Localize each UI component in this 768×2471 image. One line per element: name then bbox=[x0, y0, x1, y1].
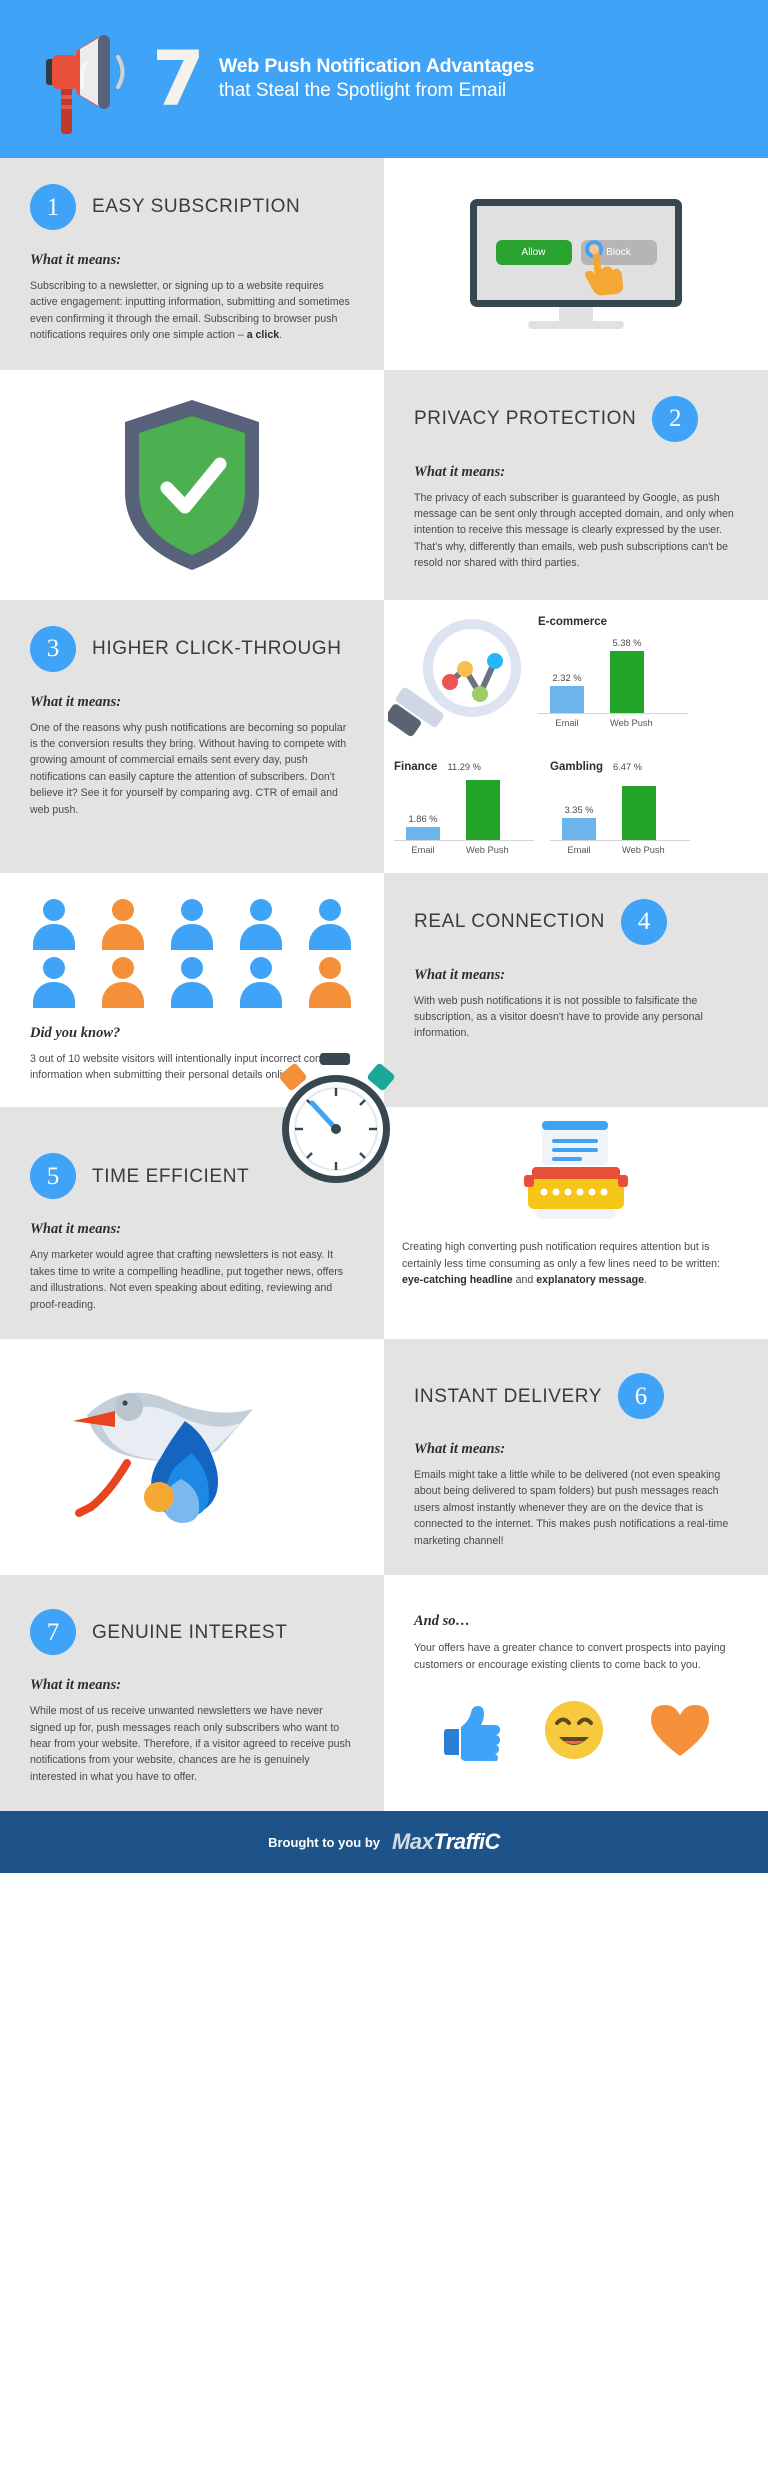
monitor-stand bbox=[559, 307, 593, 321]
bar-value-label: 3.35 % bbox=[565, 805, 594, 815]
did-you-know-label: Did you know? bbox=[30, 1025, 384, 1042]
section-number-badge: 5 bbox=[30, 1153, 76, 1199]
section-title: TIME EFFICIENT bbox=[92, 1164, 249, 1189]
chart-axis-labels: Email Web Push bbox=[550, 845, 690, 855]
section-1-illustration-pane: Allow Block bbox=[384, 158, 768, 370]
section-6-body: Emails might take a little while to be d… bbox=[414, 1467, 738, 1549]
section-number-badge: 3 bbox=[30, 626, 76, 672]
section-number-badge: 2 bbox=[652, 396, 698, 442]
section-4-body: With web push notifications it is not po… bbox=[414, 993, 738, 1042]
chart-title: Finance bbox=[394, 761, 437, 773]
section-7: 7 GENUINE INTEREST What it means: While … bbox=[0, 1575, 768, 1811]
section-1: 1 EASY SUBSCRIPTION What it means: Subsc… bbox=[0, 158, 768, 370]
bar-group-email: 1.86 % bbox=[406, 775, 440, 840]
and-so-body: Your offers have a greater chance to con… bbox=[414, 1640, 738, 1673]
right-body-pre: Creating high converting push notificati… bbox=[402, 1241, 720, 1269]
section-5-body: Any marketer would agree that crafting n… bbox=[30, 1247, 354, 1313]
section-number-badge: 6 bbox=[618, 1373, 664, 1419]
section-5-right-body: Creating high converting push notificati… bbox=[402, 1239, 738, 1288]
section-6-heading: 6 INSTANT DELIVERY bbox=[414, 1373, 738, 1419]
infographic-page: 7 Web Push Notification Advantages that … bbox=[0, 0, 768, 1873]
section-3-text-pane: 3 HIGHER CLICK-THROUGH What it means: On… bbox=[0, 600, 384, 873]
section-2-text-pane: 2 PRIVACY PROTECTION What it means: The … bbox=[384, 370, 768, 600]
chart-bars: 1.86 % bbox=[394, 775, 534, 841]
bar-email bbox=[406, 827, 440, 840]
body-post: . bbox=[279, 329, 282, 341]
section-2: 2 PRIVACY PROTECTION What it means: The … bbox=[0, 370, 768, 600]
monitor-base bbox=[528, 321, 624, 329]
bar-group-email: 3.35 % bbox=[562, 775, 596, 840]
header-number: 7 bbox=[152, 41, 205, 117]
section-number-badge: 1 bbox=[30, 184, 76, 230]
section-5-illustration-pane: Creating high converting push notificati… bbox=[384, 1107, 768, 1339]
person-avatar bbox=[31, 899, 77, 951]
bar-group-webpush bbox=[466, 775, 500, 840]
person-avatar bbox=[169, 957, 215, 1009]
chart-bars: 2.32 % 5.38 % bbox=[538, 630, 688, 714]
browser-screen: Allow Block bbox=[470, 199, 682, 307]
right-body-post: . bbox=[644, 1274, 647, 1286]
smiling-face-icon bbox=[543, 1699, 605, 1761]
chart-gambling: Gambling 6.47 % 3.35 % bbox=[550, 761, 690, 855]
bar-webpush bbox=[622, 786, 656, 840]
axis-label-webpush: Web Push bbox=[610, 718, 644, 728]
bar-group-email: 2.32 % bbox=[550, 630, 584, 713]
person-avatar bbox=[31, 957, 77, 1009]
section-2-heading: 2 PRIVACY PROTECTION bbox=[414, 396, 738, 442]
person-avatar bbox=[238, 957, 284, 1009]
bar-webpush bbox=[610, 651, 644, 713]
what-it-means-label: What it means: bbox=[30, 1677, 354, 1694]
bar-value-label: 1.86 % bbox=[409, 814, 438, 824]
brand-tail: C bbox=[485, 1829, 500, 1854]
section-3: 3 HIGHER CLICK-THROUGH What it means: On… bbox=[0, 600, 768, 873]
section-6: 6 INSTANT DELIVERY What it means: Emails… bbox=[0, 1339, 768, 1575]
heart-icon bbox=[647, 1699, 713, 1761]
header-title-line1: Web Push Notification Advantages bbox=[219, 54, 534, 78]
chart-axis-labels: Email Web Push bbox=[394, 845, 534, 855]
section-number-badge: 4 bbox=[621, 899, 667, 945]
section-title: INSTANT DELIVERY bbox=[414, 1384, 602, 1409]
brand-light: Max bbox=[392, 1829, 433, 1854]
right-body-bold2: explanatory message bbox=[536, 1274, 644, 1286]
bar-group-webpush bbox=[622, 775, 656, 840]
bar-group-webpush: 5.38 % bbox=[610, 630, 644, 713]
section-1-body: Subscribing to a newsletter, or signing … bbox=[30, 278, 354, 344]
section-3-charts-pane: E-commerce 2.32 % 5.38 % bbox=[384, 600, 768, 873]
magnifier-line-chart-icon bbox=[388, 616, 538, 751]
hand-cursor-icon bbox=[581, 237, 631, 297]
brand-bold: Traffi bbox=[433, 1829, 484, 1854]
infographic-footer: Brought to you by MaxTraffiC bbox=[0, 1811, 768, 1873]
section-4-heading: 4 REAL CONNECTION bbox=[414, 899, 738, 945]
axis-label-email: Email bbox=[550, 718, 584, 728]
what-it-means-label: What it means: bbox=[30, 1221, 354, 1238]
section-1-text-pane: 1 EASY SUBSCRIPTION What it means: Subsc… bbox=[0, 158, 384, 370]
maxtraffic-logo[interactable]: MaxTraffiC bbox=[392, 1829, 500, 1855]
megaphone-icon bbox=[28, 19, 148, 139]
bar-value-label: 6.47 % bbox=[613, 762, 642, 772]
bar-email bbox=[562, 818, 596, 840]
person-avatar bbox=[169, 899, 215, 951]
section-7-heading: 7 GENUINE INTEREST bbox=[30, 1609, 354, 1655]
stopwatch-icon bbox=[270, 1049, 404, 1194]
person-avatar bbox=[307, 899, 353, 951]
section-number-badge: 7 bbox=[30, 1609, 76, 1655]
section-6-illustration-pane bbox=[0, 1339, 384, 1575]
allow-button[interactable]: Allow bbox=[496, 240, 572, 265]
right-body-mid: and bbox=[513, 1274, 537, 1286]
chart-axis-labels: Email Web Push bbox=[538, 718, 688, 728]
axis-label-email: Email bbox=[562, 845, 596, 855]
monitor-illustration: Allow Block bbox=[470, 199, 682, 329]
chart-title: Gambling bbox=[550, 761, 603, 773]
and-so-label: And so… bbox=[414, 1613, 738, 1630]
section-7-body: While most of us receive unwanted newsle… bbox=[30, 1703, 354, 1785]
chart-ecommerce: E-commerce 2.32 % 5.38 % bbox=[538, 616, 688, 728]
people-group-icon bbox=[0, 873, 384, 1017]
bar-value-label: 5.38 % bbox=[613, 638, 642, 648]
person-avatar bbox=[100, 957, 146, 1009]
what-it-means-label: What it means: bbox=[414, 1441, 738, 1458]
axis-label-webpush: Web Push bbox=[622, 845, 656, 855]
infographic-header: 7 Web Push Notification Advantages that … bbox=[0, 0, 768, 158]
reaction-icons bbox=[384, 1677, 768, 1771]
what-it-means-label: What it means: bbox=[30, 252, 354, 269]
axis-label-webpush: Web Push bbox=[466, 845, 500, 855]
section-2-body: The privacy of each subscriber is guaran… bbox=[414, 490, 738, 572]
typewriter-icon bbox=[512, 1117, 640, 1229]
section-title: HIGHER CLICK-THROUGH bbox=[92, 636, 342, 661]
section-title: GENUINE INTEREST bbox=[92, 1620, 287, 1645]
stork-delivery-icon bbox=[67, 1357, 317, 1539]
bar-value-label: 2.32 % bbox=[553, 673, 582, 683]
chart-finance: Finance 11.29 % 1.86 % bbox=[394, 761, 534, 855]
bar-email bbox=[550, 686, 584, 713]
section-title: EASY SUBSCRIPTION bbox=[92, 194, 300, 219]
right-body-bold1: eye-catching headline bbox=[402, 1274, 513, 1286]
chart-title: E-commerce bbox=[538, 616, 688, 628]
bar-value-label: 11.29 % bbox=[447, 762, 480, 772]
body-bold: a click bbox=[247, 329, 279, 341]
section-7-illustration-pane: And so… Your offers have a greater chanc… bbox=[384, 1575, 768, 1811]
header-title: Web Push Notification Advantages that St… bbox=[219, 54, 534, 103]
chart-bars: 3.35 % bbox=[550, 775, 690, 841]
footer-text: Brought to you by bbox=[268, 1835, 380, 1850]
what-it-means-label: What it means: bbox=[414, 464, 738, 481]
section-title: PRIVACY PROTECTION bbox=[414, 406, 636, 431]
section-3-heading: 3 HIGHER CLICK-THROUGH bbox=[30, 626, 354, 672]
ctr-charts: E-commerce 2.32 % 5.38 % bbox=[384, 600, 768, 873]
section-3-body: One of the reasons why push notification… bbox=[30, 720, 354, 818]
person-avatar bbox=[100, 899, 146, 951]
section-5: 5 TIME EFFICIENT What it means: Any mark… bbox=[0, 1107, 768, 1339]
person-avatar bbox=[307, 957, 353, 1009]
what-it-means-label: What it means: bbox=[414, 967, 738, 984]
header-title-line2: that Steal the Spotlight from Email bbox=[219, 79, 534, 104]
section-6-text-pane: 6 INSTANT DELIVERY What it means: Emails… bbox=[384, 1339, 768, 1575]
body-pre: Subscribing to a newsletter, or signing … bbox=[30, 280, 350, 341]
what-it-means-label: What it means: bbox=[30, 694, 354, 711]
shield-check-icon bbox=[117, 396, 267, 574]
bar-webpush bbox=[466, 780, 500, 840]
thumbs-up-icon bbox=[439, 1699, 501, 1761]
person-avatar bbox=[238, 899, 284, 951]
axis-label-email: Email bbox=[406, 845, 440, 855]
section-2-illustration-pane bbox=[0, 370, 384, 600]
section-7-text-pane: 7 GENUINE INTEREST What it means: While … bbox=[0, 1575, 384, 1811]
section-title: REAL CONNECTION bbox=[414, 909, 605, 934]
section-1-heading: 1 EASY SUBSCRIPTION bbox=[30, 184, 354, 230]
section-4-text-pane: 4 REAL CONNECTION What it means: With we… bbox=[384, 873, 768, 1108]
